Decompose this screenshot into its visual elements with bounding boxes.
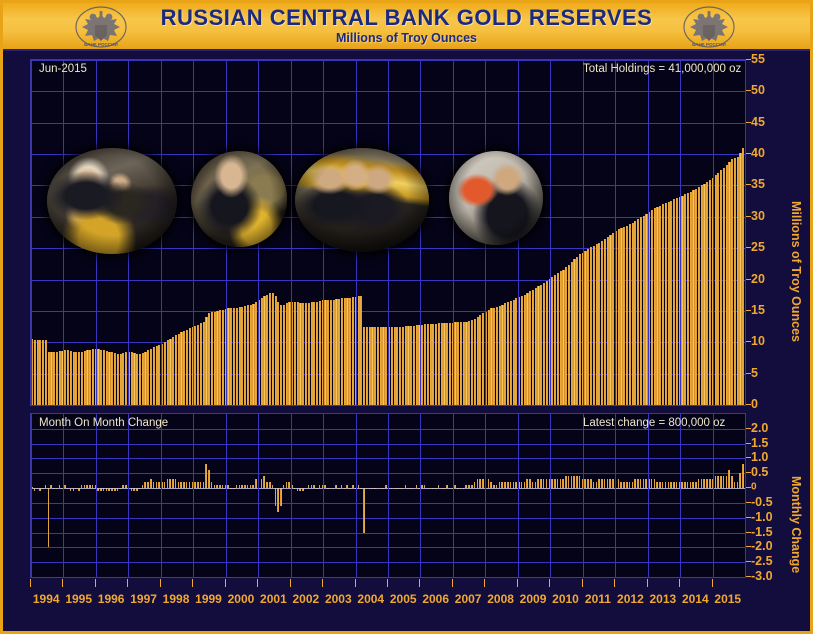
bar-monthly-change (742, 464, 744, 488)
bar-monthly-change (526, 479, 528, 488)
y-axis-title-change: Monthly Change (789, 476, 803, 573)
y-axis-tick-label-change: -1.0 (751, 510, 773, 524)
photo-officials-with-large-gold-bar (295, 148, 429, 252)
bar-monthly-change (562, 479, 564, 488)
photo-vignette (449, 151, 543, 245)
page-title: RUSSIAN CENTRAL BANK GOLD RESERVES (161, 7, 653, 29)
bar-monthly-change (726, 476, 728, 488)
gridline-vertical (291, 60, 292, 405)
bar-monthly-change (540, 479, 542, 488)
gridline-vertical (96, 414, 97, 577)
bar-monthly-change (715, 476, 717, 488)
x-axis-tick-label: 2015 (714, 592, 741, 606)
bar-monthly-change (479, 479, 481, 488)
gridline-vertical (680, 60, 681, 405)
chart-page: БАНК РОССИИ RUSSIAN CENTRAL BANK GOLD RE… (0, 0, 813, 634)
bar-monthly-change (717, 476, 719, 488)
bar-monthly-change (529, 479, 531, 488)
y-axis-tick-label-holdings: 20 (751, 272, 765, 286)
x-axis-tick-mark (127, 579, 128, 587)
photo-putin-holding-gold-bar (191, 151, 287, 247)
x-axis-tick-label: 2005 (390, 592, 417, 606)
y-axis-tick-mark (746, 472, 751, 473)
russian-eagle-emblem-right: БАНК РОССИИ (679, 5, 739, 49)
x-axis-tick-mark (387, 579, 388, 587)
bar-monthly-change (584, 479, 586, 488)
gridline-vertical (226, 414, 227, 577)
bar-monthly-change (568, 476, 570, 488)
bar-monthly-change (482, 479, 484, 488)
bar-monthly-change (709, 479, 711, 488)
x-axis-tick-label: 2010 (552, 592, 579, 606)
y-axis-tick-label-change: -2.5 (751, 554, 773, 568)
y-axis-tick-mark (746, 247, 751, 248)
bar-monthly-change (698, 479, 700, 488)
x-axis-tick-mark (582, 579, 583, 587)
y-axis-tick-label-change: 2.0 (751, 421, 768, 435)
russian-eagle-emblem-left: БАНК РОССИИ (71, 5, 131, 49)
bar-monthly-change (637, 479, 639, 488)
x-axis-tick-mark (322, 579, 323, 587)
bar-monthly-change (261, 479, 263, 488)
bar-monthly-change (590, 479, 592, 488)
svg-text:БАНК РОССИИ: БАНК РОССИИ (84, 42, 118, 47)
bar-monthly-change (701, 479, 703, 488)
bar-monthly-change (731, 476, 733, 488)
y-axis-title-holdings: Millions of Troy Ounces (789, 201, 803, 342)
y-axis-tick-label-change: 1.0 (751, 450, 768, 464)
x-axis-tick-mark (614, 579, 615, 587)
bar-monthly-change (205, 464, 207, 488)
photo-medvedev-holding-gold (449, 151, 543, 245)
x-axis-tick-label: 1999 (195, 592, 222, 606)
y-axis-tick-label-change: 0.5 (751, 465, 768, 479)
x-axis-tick-label: 2003 (325, 592, 352, 606)
monthly-change-panel (30, 413, 746, 578)
gridline-vertical (323, 414, 324, 577)
y-axis-tick-mark (746, 576, 751, 577)
x-axis-tick-label: 2004 (357, 592, 384, 606)
y-axis-tick-mark (746, 561, 751, 562)
y-axis-tick-mark (746, 428, 751, 429)
bar-monthly-change (543, 479, 545, 488)
bar-monthly-change (576, 476, 578, 488)
bar-monthly-change (587, 479, 589, 488)
bar-monthly-change (598, 479, 600, 488)
gridline-vertical (615, 60, 616, 405)
y-axis-tick-mark (746, 457, 751, 458)
bar-monthly-change (48, 488, 50, 547)
bar-monthly-change (634, 479, 636, 488)
bar-monthly-change (275, 488, 277, 506)
bar-monthly-change (601, 479, 603, 488)
gridline-vertical (550, 60, 551, 405)
x-axis-tick-label: 2009 (520, 592, 547, 606)
y-axis-tick-label-change: 1.5 (751, 436, 768, 450)
bar-monthly-change (208, 470, 210, 488)
x-axis-tick-mark (712, 579, 713, 587)
gridline-vertical (713, 414, 714, 577)
x-axis-tick-label: 2008 (487, 592, 514, 606)
gridline-vertical (291, 414, 292, 577)
bar-monthly-change (560, 479, 562, 488)
bar-monthly-change (618, 479, 620, 488)
gridline-horizontal (31, 405, 745, 406)
bar-monthly-change (579, 476, 581, 488)
y-axis-tick-mark (746, 532, 751, 533)
gridline-vertical (583, 60, 584, 405)
gridline-vertical (680, 414, 681, 577)
gridline-vertical (713, 60, 714, 405)
bar-monthly-change (651, 479, 653, 488)
y-axis-tick-label-holdings: 25 (751, 240, 765, 254)
y-axis-tick-mark (746, 487, 751, 488)
chart-header: БАНК РОССИИ RUSSIAN CENTRAL BANK GOLD RE… (3, 3, 810, 51)
bar-monthly-change (172, 479, 174, 488)
bar-holdings (742, 148, 744, 405)
bar-monthly-change (477, 479, 479, 488)
bar-monthly-change (654, 479, 656, 488)
y-axis-tick-label-change: -2.0 (751, 539, 773, 553)
gridline-vertical (648, 60, 649, 405)
bar-monthly-change (723, 476, 725, 488)
x-axis-tick-mark (549, 579, 550, 587)
x-axis-tick-mark (62, 579, 63, 587)
y-axis-tick-label-holdings: 40 (751, 146, 765, 160)
x-axis-tick-mark (452, 579, 453, 587)
x-axis-tick-label: 2014 (682, 592, 709, 606)
x-axis-tick-mark (647, 579, 648, 587)
gridline-vertical (356, 414, 357, 577)
gridline-vertical (420, 414, 421, 577)
bar-monthly-change (537, 479, 539, 488)
bar-monthly-change (720, 476, 722, 488)
x-axis-tick-label: 1997 (130, 592, 157, 606)
bar-monthly-change (728, 470, 730, 488)
y-axis-tick-mark (746, 90, 751, 91)
bar-monthly-change (643, 479, 645, 488)
x-axis-tick-mark (225, 579, 226, 587)
x-axis-tick-label: 2006 (422, 592, 449, 606)
x-axis-tick-label: 1995 (65, 592, 92, 606)
x-axis-tick-mark (30, 579, 31, 587)
y-axis-tick-mark (746, 310, 751, 311)
bar-monthly-change (554, 479, 556, 488)
x-axis-tick-mark (192, 579, 193, 587)
bar-monthly-change (175, 479, 177, 488)
x-axis-tick-label: 2002 (293, 592, 320, 606)
annotation-total-holdings: Total Holdings = 41,000,000 oz (583, 63, 741, 75)
x-axis-tick-label: 2011 (585, 592, 611, 606)
y-axis-tick-label-change: -0.5 (751, 495, 773, 509)
bar-monthly-change (263, 476, 265, 488)
gridline-vertical (193, 414, 194, 577)
bar-monthly-change (150, 479, 152, 488)
gridline-vertical (615, 414, 616, 577)
y-axis-tick-mark (746, 502, 751, 503)
bar-monthly-change (167, 479, 169, 488)
annotation-latest-change: Latest change = 800,000 oz (583, 417, 725, 429)
y-axis-tick-mark (746, 546, 751, 547)
gridline-horizontal (31, 577, 745, 578)
bar-monthly-change (640, 479, 642, 488)
bar-monthly-change (363, 488, 365, 532)
gridline-vertical (648, 414, 649, 577)
gridline-vertical (550, 414, 551, 577)
gridline-vertical (128, 414, 129, 577)
y-axis-tick-mark (746, 404, 751, 405)
x-axis-tick-label: 2013 (650, 592, 677, 606)
annotation-mom-label: Month On Month Change (39, 417, 168, 429)
plot-region: Jun-2015 Total Holdings = 41,000,000 oz … (3, 51, 810, 634)
x-axis-tick-label: 1996 (98, 592, 125, 606)
y-axis-tick-mark (746, 279, 751, 280)
bar-monthly-change (706, 479, 708, 488)
gridline-vertical (518, 414, 519, 577)
monthly-change-bars (31, 414, 745, 577)
photo-putin-with-gold-bars-factory (47, 148, 177, 254)
y-axis-tick-label-holdings: 55 (751, 52, 765, 66)
y-axis-tick-label-holdings: 15 (751, 303, 765, 317)
x-axis-tick-mark (355, 579, 356, 587)
y-axis-tick-mark (746, 122, 751, 123)
gridline-vertical (161, 414, 162, 577)
bar-monthly-change (609, 479, 611, 488)
y-axis-tick-mark (746, 153, 751, 154)
y-axis-tick-mark (746, 443, 751, 444)
x-axis-tick-mark (95, 579, 96, 587)
photo-vignette (295, 148, 429, 252)
x-axis-tick-mark (679, 579, 680, 587)
gridline-vertical (31, 414, 32, 577)
x-axis-tick-mark (517, 579, 518, 587)
y-axis-tick-mark (746, 341, 751, 342)
y-axis-tick-label-holdings: 5 (751, 366, 758, 380)
y-axis-tick-label-holdings: 30 (751, 209, 765, 223)
y-axis-tick-label-change: -3.0 (751, 569, 773, 583)
x-axis-tick-label: 2007 (455, 592, 482, 606)
annotation-date: Jun-2015 (39, 63, 87, 75)
gridline-vertical (388, 414, 389, 577)
bar-monthly-change (557, 479, 559, 488)
y-axis-tick-label-holdings: 50 (751, 83, 765, 97)
x-axis-tick-label: 1994 (33, 592, 60, 606)
x-axis-tick-label: 1998 (163, 592, 190, 606)
page-subtitle: Millions of Troy Ounces (161, 32, 653, 45)
bar-monthly-change (571, 476, 573, 488)
bar-monthly-change (573, 476, 575, 488)
y-axis-tick-mark (746, 216, 751, 217)
header-titles: RUSSIAN CENTRAL BANK GOLD RESERVES Milli… (161, 7, 653, 45)
bar-monthly-change (280, 488, 282, 506)
gridline-vertical (583, 414, 584, 577)
x-axis-tick-mark (419, 579, 420, 587)
x-axis-tick-mark (290, 579, 291, 587)
photo-vignette (47, 148, 177, 254)
photo-vignette (191, 151, 287, 247)
bar-monthly-change (546, 479, 548, 488)
x-axis-tick-label: 2001 (260, 592, 287, 606)
y-axis-tick-mark (746, 517, 751, 518)
svg-text:БАНК РОССИИ: БАНК РОССИИ (692, 42, 726, 47)
y-axis-tick-mark (746, 373, 751, 374)
x-axis-tick-mark (484, 579, 485, 587)
bar-monthly-change (703, 479, 705, 488)
y-axis-tick-label-holdings: 35 (751, 177, 765, 191)
bar-monthly-change (255, 479, 257, 488)
gridline-vertical (63, 414, 64, 577)
bar-monthly-change (612, 479, 614, 488)
x-axis-tick-mark (160, 579, 161, 587)
x-axis-tick-label: 2000 (228, 592, 255, 606)
x-axis-tick-mark (257, 579, 258, 587)
bar-monthly-change (607, 479, 609, 488)
gridline-vertical (258, 414, 259, 577)
bar-monthly-change (565, 476, 567, 488)
y-axis-tick-label-holdings: 10 (751, 334, 765, 348)
gridline-vertical (31, 60, 32, 405)
bar-monthly-change (604, 479, 606, 488)
bar-monthly-change (169, 479, 171, 488)
bar-monthly-change (551, 479, 553, 488)
y-axis-tick-label-holdings: 45 (751, 115, 765, 129)
x-axis-tick-label: 2012 (617, 592, 644, 606)
y-axis-tick-label-change: -1.5 (751, 525, 773, 539)
y-axis-tick-mark (746, 59, 751, 60)
y-axis-tick-label-change: 0 (751, 482, 757, 493)
gridline-vertical (453, 414, 454, 577)
gridline-vertical (485, 414, 486, 577)
bar-monthly-change (488, 479, 490, 488)
bar-monthly-change (739, 473, 741, 488)
y-axis-tick-label-holdings: 0 (751, 397, 758, 411)
y-axis-tick-mark (746, 184, 751, 185)
bar-monthly-change (277, 488, 279, 512)
